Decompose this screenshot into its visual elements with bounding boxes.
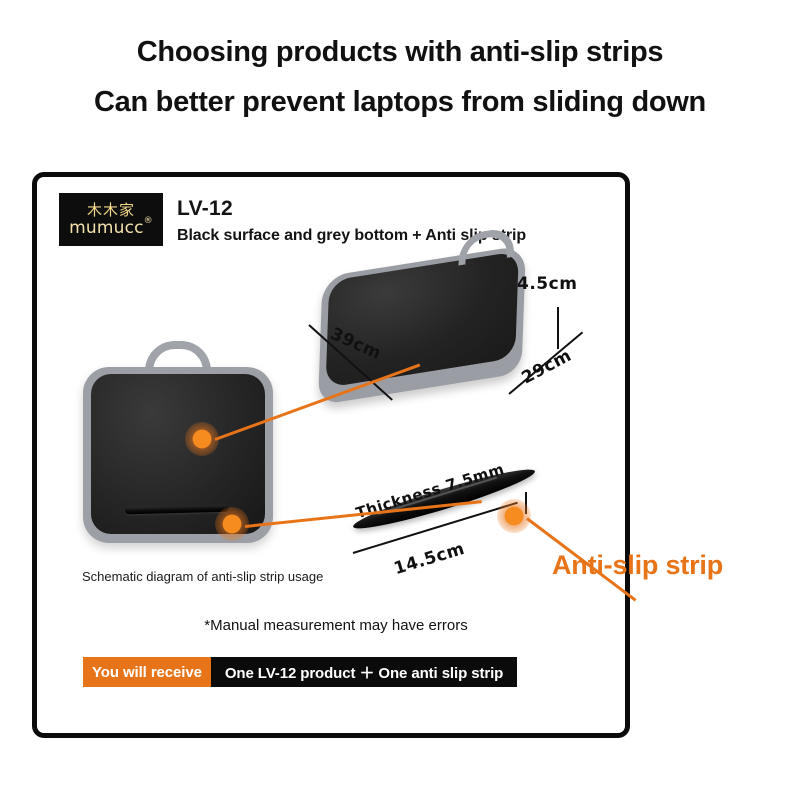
headline-primary: Choosing products with anti-slip strips	[0, 36, 800, 69]
headline-secondary: Can better prevent laptops from sliding …	[0, 86, 800, 119]
brand-logo-latin-name: mumucc	[69, 218, 144, 238]
product-infographic: Choosing products with anti-slip strips …	[0, 0, 800, 800]
you-will-receive-banner: You will receive One LV-12 product ＋ One…	[83, 657, 517, 687]
callout-marker-strip-standalone	[497, 499, 531, 533]
product-detail-card: 木木家 mumucc® LV-12 Black surface and grey…	[32, 172, 630, 738]
dimension-line-height	[557, 307, 559, 349]
brand-logo-chinese-text: 木木家	[87, 203, 135, 218]
schematic-caption: Schematic diagram of anti-slip strip usa…	[82, 569, 323, 584]
dimension-label-width: 29cm	[518, 346, 575, 389]
registered-trademark-icon: ®	[144, 216, 153, 226]
dimension-label-strip-length: 14.5cm	[392, 539, 467, 579]
laptop-tray-angled-view	[318, 245, 526, 406]
anti-slip-strip-callout-label: Anti-slip strip	[552, 550, 723, 581]
dimension-label-height: 4.5cm	[517, 274, 577, 294]
measurement-disclaimer: *Manual measurement may have errors	[37, 617, 635, 634]
callout-marker-strip-on-tray	[215, 507, 249, 541]
product-model-name: LV-12	[177, 197, 233, 221]
receive-banner-contents: One LV-12 product ＋ One anti slip strip	[211, 657, 517, 687]
brand-logo: 木木家 mumucc®	[59, 193, 163, 246]
brand-logo-latin-text: mumucc®	[69, 220, 153, 237]
receive-banner-label: You will receive	[83, 657, 211, 687]
